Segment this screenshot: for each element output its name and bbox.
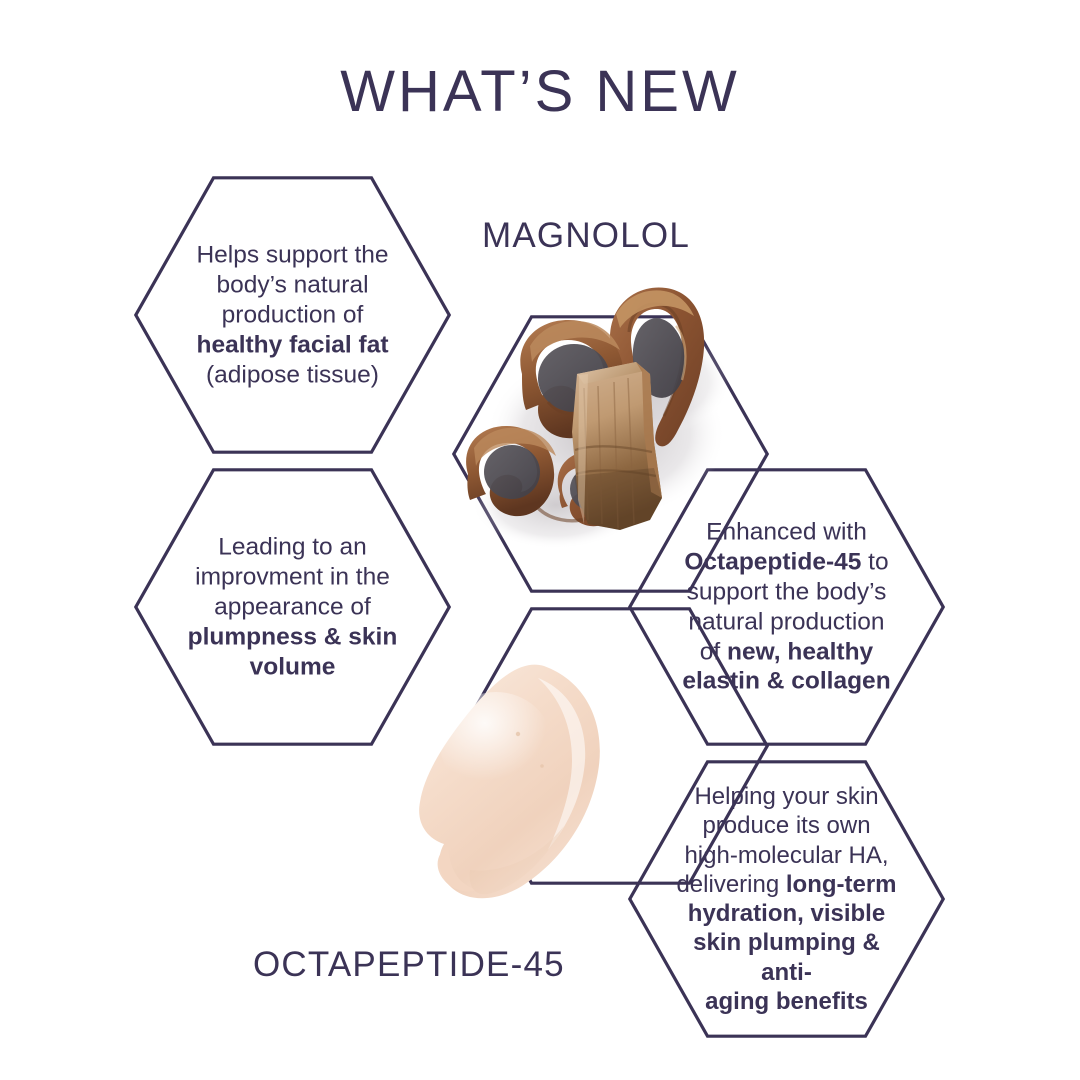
text-emphasis: Octapeptide-45 [684, 548, 861, 575]
text-emphasis: volume [250, 653, 336, 680]
text-emphasis: elastin & collagen [682, 668, 890, 695]
text-emphasis: healthy facial fat [197, 331, 389, 358]
text-line: hydration, visible [668, 899, 906, 928]
text-emphasis: hydration, visible [688, 900, 885, 927]
text-line: Leading to an [177, 532, 409, 562]
hexagon-cell-elastin-collagen: Enhanced with Octapeptide-45 to support … [628, 468, 945, 746]
text-line: aging benefits [668, 987, 906, 1016]
text-line: body’s natural [177, 270, 409, 300]
text-run: delivering [676, 871, 785, 898]
text-emphasis: aging benefits [705, 988, 868, 1015]
caption-magnolol: MAGNOLOL [482, 216, 690, 256]
text-line: delivering long-term [668, 870, 906, 899]
text-line: (adipose tissue) [177, 360, 409, 390]
text-line: Helping your skin [668, 782, 906, 811]
hexagon-cell-healthy-facial-fat: Helps support the body’s natural product… [134, 176, 451, 454]
text-line: appearance of [177, 592, 409, 622]
hexagon-cell-plumpness-skin-volume: Leading to an improvment in the appearan… [134, 468, 451, 746]
text-line: of new, healthy [668, 637, 906, 667]
text-line: produce its own [668, 811, 906, 840]
text-line: Enhanced with [668, 517, 906, 547]
text-line: plumpness & skin [177, 622, 409, 652]
text-run: to [861, 548, 888, 575]
text-emphasis: new, healthy [727, 638, 873, 665]
text-emphasis: plumpness & skin [188, 623, 398, 650]
text-line: improvment in the [177, 562, 409, 592]
page-title: WHAT’S NEW [0, 58, 1080, 125]
text-line: healthy facial fat [177, 330, 409, 360]
caption-octapeptide: OCTAPEPTIDE-45 [253, 945, 565, 985]
text-line: Helps support the [177, 240, 409, 270]
text-run: of [700, 638, 727, 665]
text-line: high-molecular HA, [668, 840, 906, 869]
hexagon-text-healthy-facial-fat: Helps support the body’s natural product… [177, 240, 409, 389]
text-line: skin plumping & anti- [668, 928, 906, 987]
hexagon-text-elastin-collagen: Enhanced with Octapeptide-45 to support … [668, 517, 906, 696]
text-line: production of [177, 300, 409, 330]
text-line: Octapeptide-45 to [668, 547, 906, 577]
text-emphasis: long-term [786, 871, 897, 898]
hexagon-text-hydration-anti-aging: Helping your skin produce its own high-m… [668, 782, 906, 1016]
text-emphasis: skin plumping & anti- [693, 929, 880, 985]
hexagon-cell-hydration-anti-aging: Helping your skin produce its own high-m… [628, 760, 945, 1038]
text-line: support the body’s [668, 577, 906, 607]
infographic-canvas: WHAT’S NEW [0, 0, 1080, 1080]
text-line: volume [177, 652, 409, 682]
text-line: elastin & collagen [668, 667, 906, 697]
hexagon-text-plumpness-skin-volume: Leading to an improvment in the appearan… [177, 532, 409, 681]
text-line: natural production [668, 607, 906, 637]
